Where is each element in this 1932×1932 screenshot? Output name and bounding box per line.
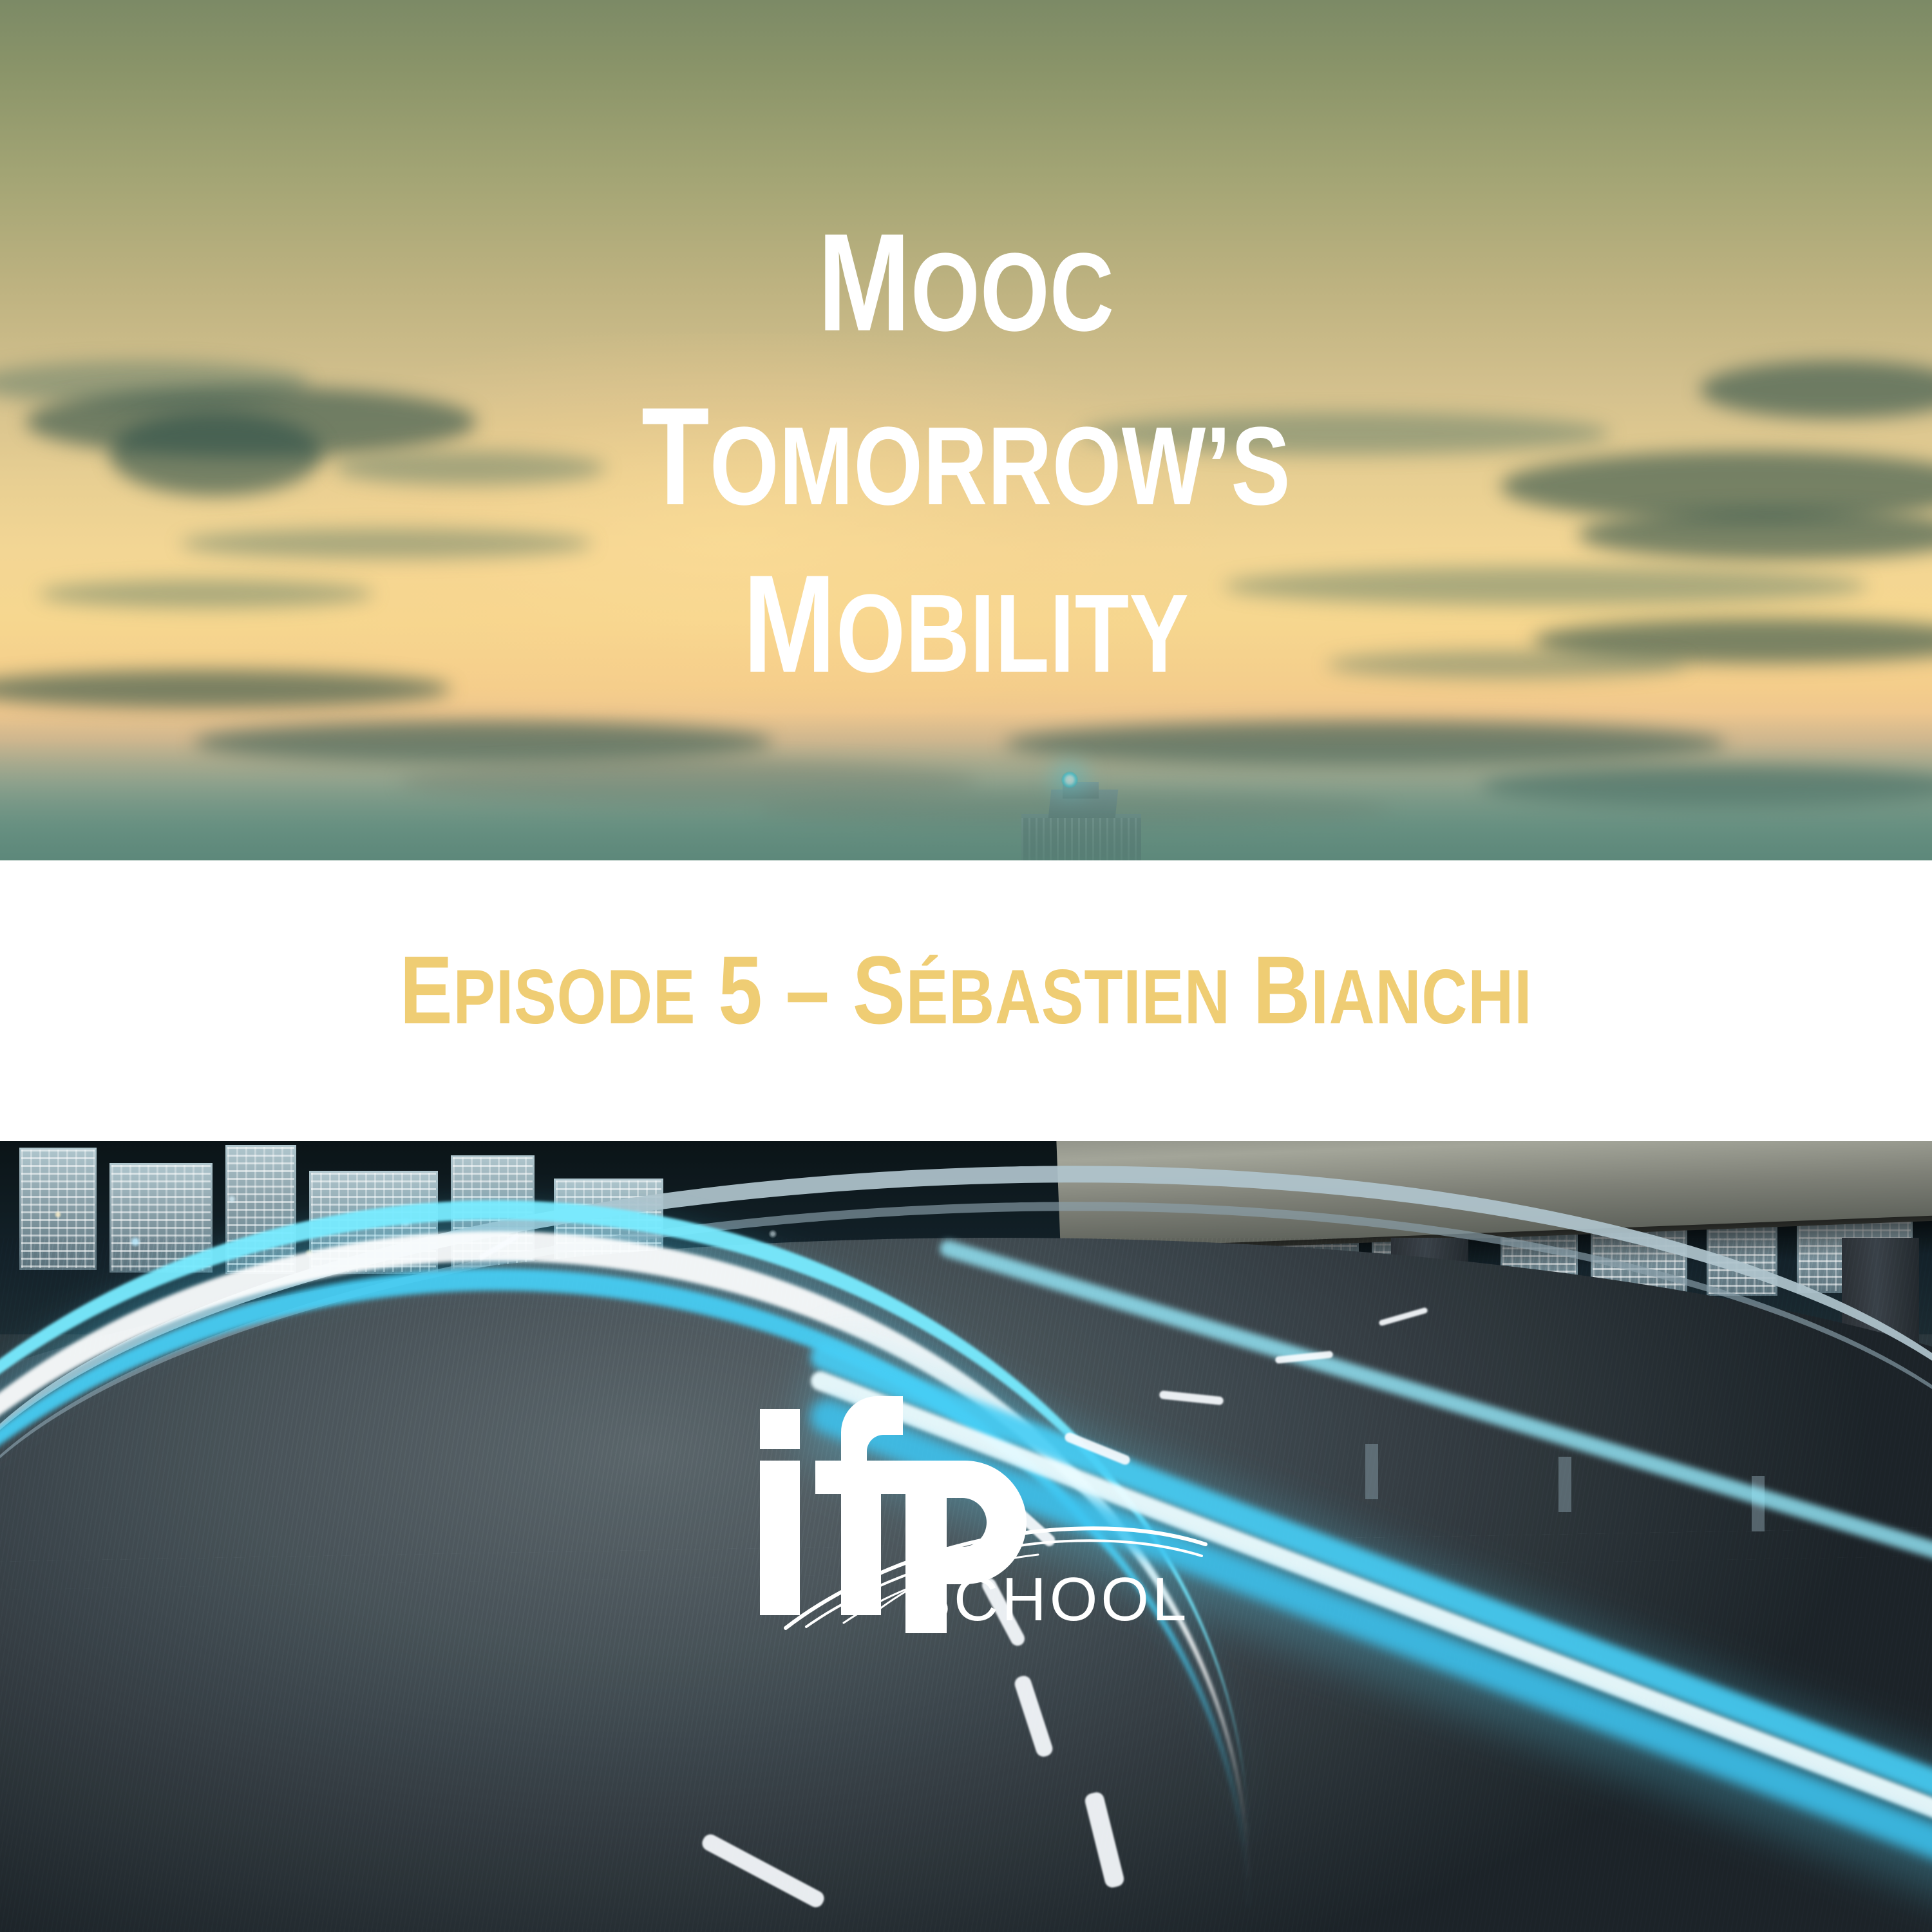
title-line-1-lead: M bbox=[818, 204, 911, 360]
episode-lead-e: E bbox=[400, 936, 453, 1044]
logo-school-text: SCHOOL bbox=[909, 1565, 1189, 1634]
title-line-1-rest: OOC bbox=[911, 230, 1114, 354]
episode-band: EPISODE 5 – SÉBASTIEN BIANCHI bbox=[0, 860, 1932, 1141]
episode-title: EPISODE 5 – SÉBASTIEN BIANCHI bbox=[174, 942, 1758, 1038]
episode-dash: – bbox=[786, 936, 830, 1044]
title-line-2-lead: T bbox=[641, 378, 710, 534]
title-line-3: MOBILITY bbox=[193, 554, 1739, 693]
title-line-3-rest: OBILITY bbox=[836, 571, 1189, 696]
episode-word: PISODE bbox=[453, 954, 696, 1040]
title-line-3-lead: M bbox=[743, 545, 836, 701]
title-line-1: MOOC bbox=[193, 213, 1739, 352]
speaker-lead-s: S bbox=[853, 936, 906, 1044]
title-line-2: TOMORROW’S bbox=[193, 386, 1739, 526]
guardrail-post bbox=[1365, 1444, 1378, 1499]
title-line-2-rest: OMORROW’S bbox=[710, 404, 1291, 528]
speaker-lead-b: B bbox=[1253, 936, 1311, 1044]
guardrail-post bbox=[1558, 1457, 1571, 1512]
episode-number: 5 bbox=[718, 936, 762, 1044]
title-slide: MOOC TOMORROW’S MOBILITY EPISODE 5 – SÉB… bbox=[0, 0, 1932, 1932]
speaker-first-name: ÉBASTIEN bbox=[906, 954, 1231, 1040]
ifp-school-logo: SCHOOL bbox=[747, 1370, 1236, 1641]
speaker-last-name: IANCHI bbox=[1311, 954, 1532, 1040]
horizon-haze bbox=[0, 712, 1932, 860]
